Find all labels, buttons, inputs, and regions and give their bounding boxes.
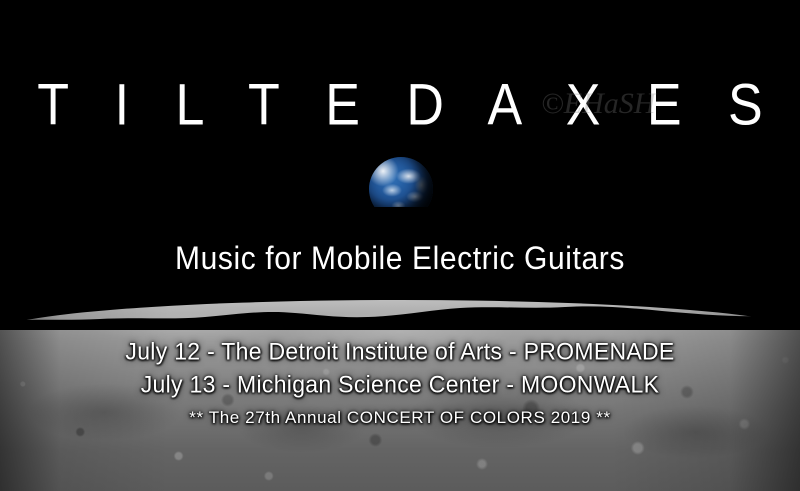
festival-tagline: ** The 27th Annual CONCERT OF COLORS 201…: [0, 404, 800, 432]
page-title: T I L T E D A X E S: [0, 72, 800, 139]
list-item: July 13 - Michigan Science Center - MOON…: [0, 367, 800, 402]
list-item: July 12 - The Detroit Institute of Arts …: [0, 334, 800, 369]
poster-subtitle: Music for Mobile Electric Guitars: [0, 240, 800, 279]
event-list: July 12 - The Detroit Institute of Arts …: [0, 334, 800, 432]
earth-image: [369, 157, 433, 207]
earth-terminator-shadow: [369, 157, 433, 207]
poster: T I L T E D A X E S ©EHaSH Music for Mob…: [0, 0, 800, 491]
